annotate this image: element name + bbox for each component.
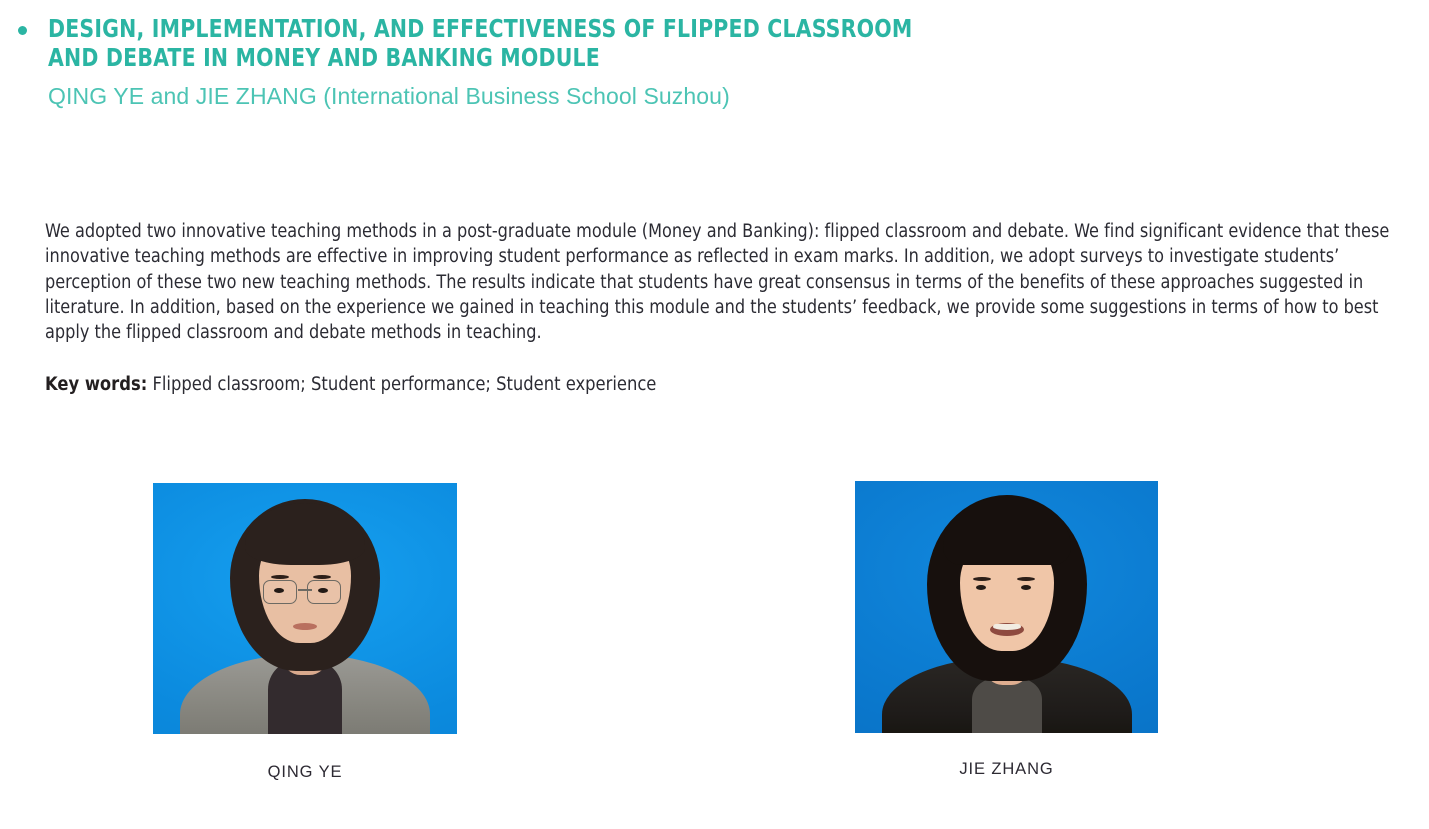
glasses-bridge [298,589,312,591]
eyebrow-left [271,575,289,579]
abstract-paragraph: We adopted two innovative teaching metho… [45,219,1392,345]
eye-left [976,585,986,590]
author-photo-card-qing-ye [153,483,457,734]
photo-caption-qing-ye: QING YE [153,763,457,782]
eyebrow-right [313,575,331,579]
bullet-point-icon [18,26,27,35]
keywords-label: Key words: [45,374,147,395]
eyebrow-left [973,577,991,581]
keywords-value: Flipped classroom; Student performance; … [147,374,656,395]
eyebrow-right [1017,577,1035,581]
eye-right [318,588,328,593]
eye-right [1021,585,1031,590]
inner-top-shape [972,677,1042,733]
eye-left [274,588,284,593]
author-photo-card-jie-zhang [855,481,1158,733]
abstract-section: We adopted two innovative teaching metho… [45,219,1413,397]
article-header: DESIGN, IMPLEMENTATION, AND EFFECTIVENES… [0,0,1429,110]
mouth-shape [293,623,317,630]
author-photos-section: QING YE JIE ZHANG [0,0,1429,829]
page-title: DESIGN, IMPLEMENTATION, AND EFFECTIVENES… [48,0,1332,72]
teeth-shape [993,624,1021,630]
photo-caption-jie-zhang: JIE ZHANG [855,760,1158,779]
title-bullet-row: DESIGN, IMPLEMENTATION, AND EFFECTIVENES… [0,0,1429,72]
keywords-line: Key words: Flipped classroom; Student pe… [45,345,1413,397]
article-authors: QING YE and JIE ZHANG (International Bus… [0,72,1429,110]
portrait-photo-qing-ye [153,483,457,734]
portrait-photo-jie-zhang [855,481,1158,733]
